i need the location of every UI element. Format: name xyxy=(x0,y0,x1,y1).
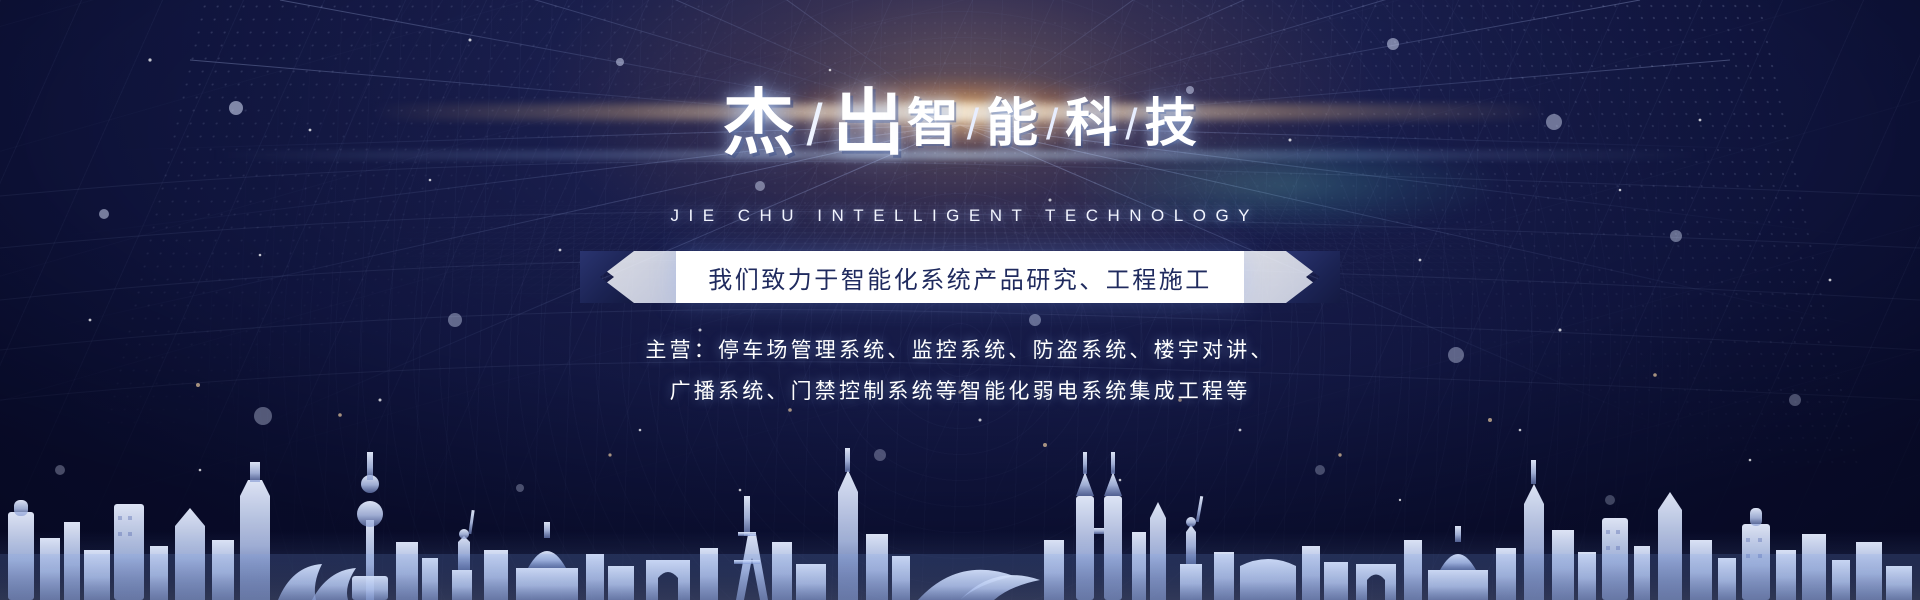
description-line-1: 主营：停车场管理系统、监控系统、防盗系统、楼宇对讲、 xyxy=(0,330,1920,371)
ribbon-main-panel: 我们致力于智能化系统产品研究、工程施工 xyxy=(676,251,1244,303)
brand-title: 杰 / 出 智 / 能 / 科 / 技 xyxy=(0,88,1920,160)
title-char-6: 技 xyxy=(1144,98,1197,150)
description-line-2: 广播系统、门禁控制系统等智能化弱电系统集成工程等 xyxy=(0,371,1920,412)
title-char-5: 科 xyxy=(1065,98,1118,150)
title-slash-1: / xyxy=(807,97,823,155)
title-char-2: 出 xyxy=(833,88,907,160)
title-slash-4: / xyxy=(1125,103,1137,147)
ribbon-slogan: 我们致力于智能化系统产品研究、工程施工 xyxy=(708,260,1212,295)
english-subtitle: JIE CHU INTELLIGENT TECHNOLOGY xyxy=(0,206,1920,226)
title-char-3: 智 xyxy=(907,98,960,150)
hero-banner: 杰 / 出 智 / 能 / 科 / 技 JIE CHU INTELLIGENT … xyxy=(0,0,1920,600)
title-char-4: 能 xyxy=(986,98,1039,150)
title-char-1: 杰 xyxy=(723,88,797,160)
service-description: 主营：停车场管理系统、监控系统、防盗系统、楼宇对讲、 广播系统、门禁控制系统等智… xyxy=(0,330,1920,412)
banner-content: 杰 / 出 智 / 能 / 科 / 技 JIE CHU INTELLIGENT … xyxy=(0,0,1920,600)
title-slash-2: / xyxy=(967,103,979,147)
title-slash-3: / xyxy=(1046,103,1058,147)
ribbon-banner: 我们致力于智能化系统产品研究、工程施工 xyxy=(580,251,1340,303)
